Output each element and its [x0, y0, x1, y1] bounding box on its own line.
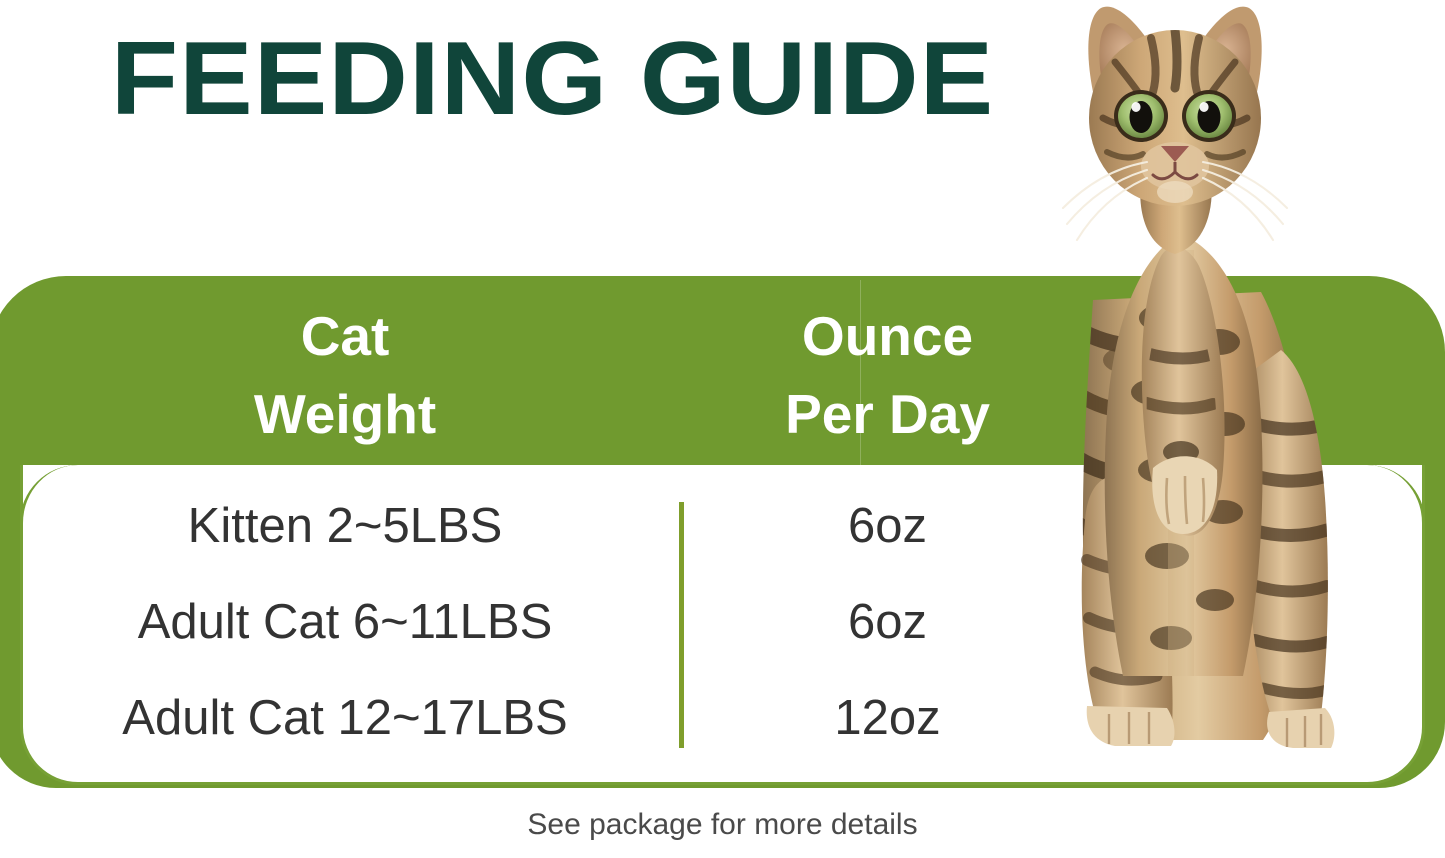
column-header-ounce-per-day-line2: Per Day: [690, 375, 1085, 453]
column-header-cat-weight: Cat Weight: [0, 297, 690, 453]
cell-cat-weight: Adult Cat 6~11LBS: [0, 594, 690, 650]
cell-ounce-per-day: 6oz: [690, 594, 1085, 650]
feeding-guide-infographic: FEEDING GUIDE Cat Weight Ounce Per Day K…: [0, 0, 1445, 858]
body-column-divider: [679, 502, 684, 748]
table-body: Kitten 2~5LBS 6oz Adult Cat 6~11LBS 6oz …: [0, 478, 1085, 766]
column-header-ounce-per-day-line1: Ounce: [690, 297, 1085, 375]
table-header-row: Cat Weight Ounce Per Day: [0, 297, 1085, 457]
cell-ounce-per-day: 12oz: [690, 690, 1085, 746]
table-row: Adult Cat 12~17LBS 12oz: [0, 670, 1085, 766]
column-header-cat-weight-line1: Cat: [0, 297, 690, 375]
cell-cat-weight: Kitten 2~5LBS: [0, 498, 690, 554]
page-title: FEEDING GUIDE: [0, 26, 1138, 132]
cell-cat-weight: Adult Cat 12~17LBS: [0, 690, 690, 746]
table-row: Adult Cat 6~11LBS 6oz: [0, 574, 1085, 670]
footer-note: See package for more details: [0, 808, 1445, 842]
cell-ounce-per-day: 6oz: [690, 498, 1085, 554]
column-header-cat-weight-line2: Weight: [0, 375, 690, 453]
table-row: Kitten 2~5LBS 6oz: [0, 478, 1085, 574]
column-header-ounce-per-day: Ounce Per Day: [690, 297, 1085, 453]
